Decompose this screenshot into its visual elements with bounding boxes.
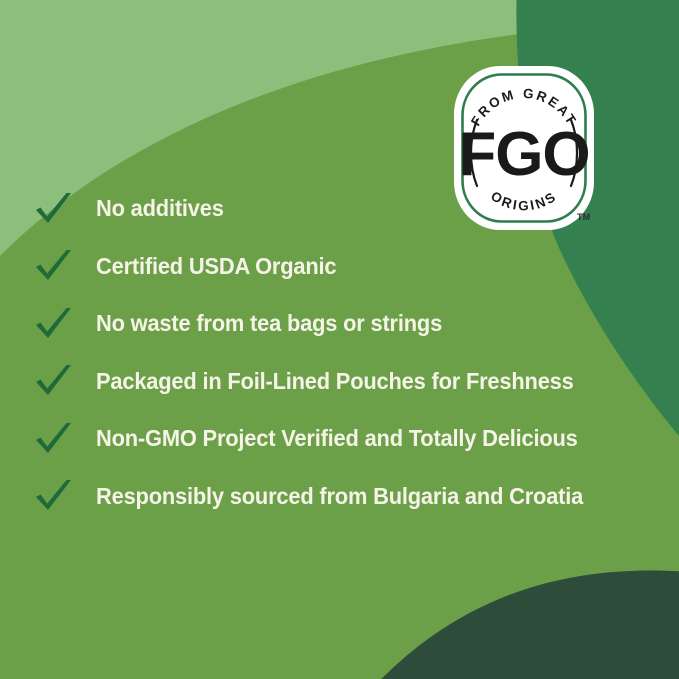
feature-label: Responsibly sourced from Bulgaria and Cr… [96,485,583,509]
feature-item: Certified USDA Organic [34,238,634,296]
badge-monogram: FGO [458,120,589,189]
feature-label: Packaged in Foil-Lined Pouches for Fresh… [96,370,574,394]
feature-checklist: No additives Certified USDA Organic No w… [34,180,634,525]
checkmark-icon [34,420,96,458]
feature-label: No additives [96,197,224,221]
feature-item: Packaged in Foil-Lined Pouches for Fresh… [34,353,634,411]
feature-item: Responsibly sourced from Bulgaria and Cr… [34,468,634,526]
checkmark-icon [34,477,96,515]
feature-item: No waste from tea bags or strings [34,295,634,353]
checkmark-icon [34,362,96,400]
checkmark-icon [34,305,96,343]
feature-item: No additives [34,180,634,238]
feature-item: Non-GMO Project Verified and Totally Del… [34,410,634,468]
product-feature-infographic: FROM GREAT FGO ORIGINS TM [0,0,679,679]
checkmark-icon [34,247,96,285]
feature-label: Non-GMO Project Verified and Totally Del… [96,427,578,451]
feature-label: Certified USDA Organic [96,255,336,279]
feature-label: No waste from tea bags or strings [96,312,442,336]
checkmark-icon [34,190,96,228]
